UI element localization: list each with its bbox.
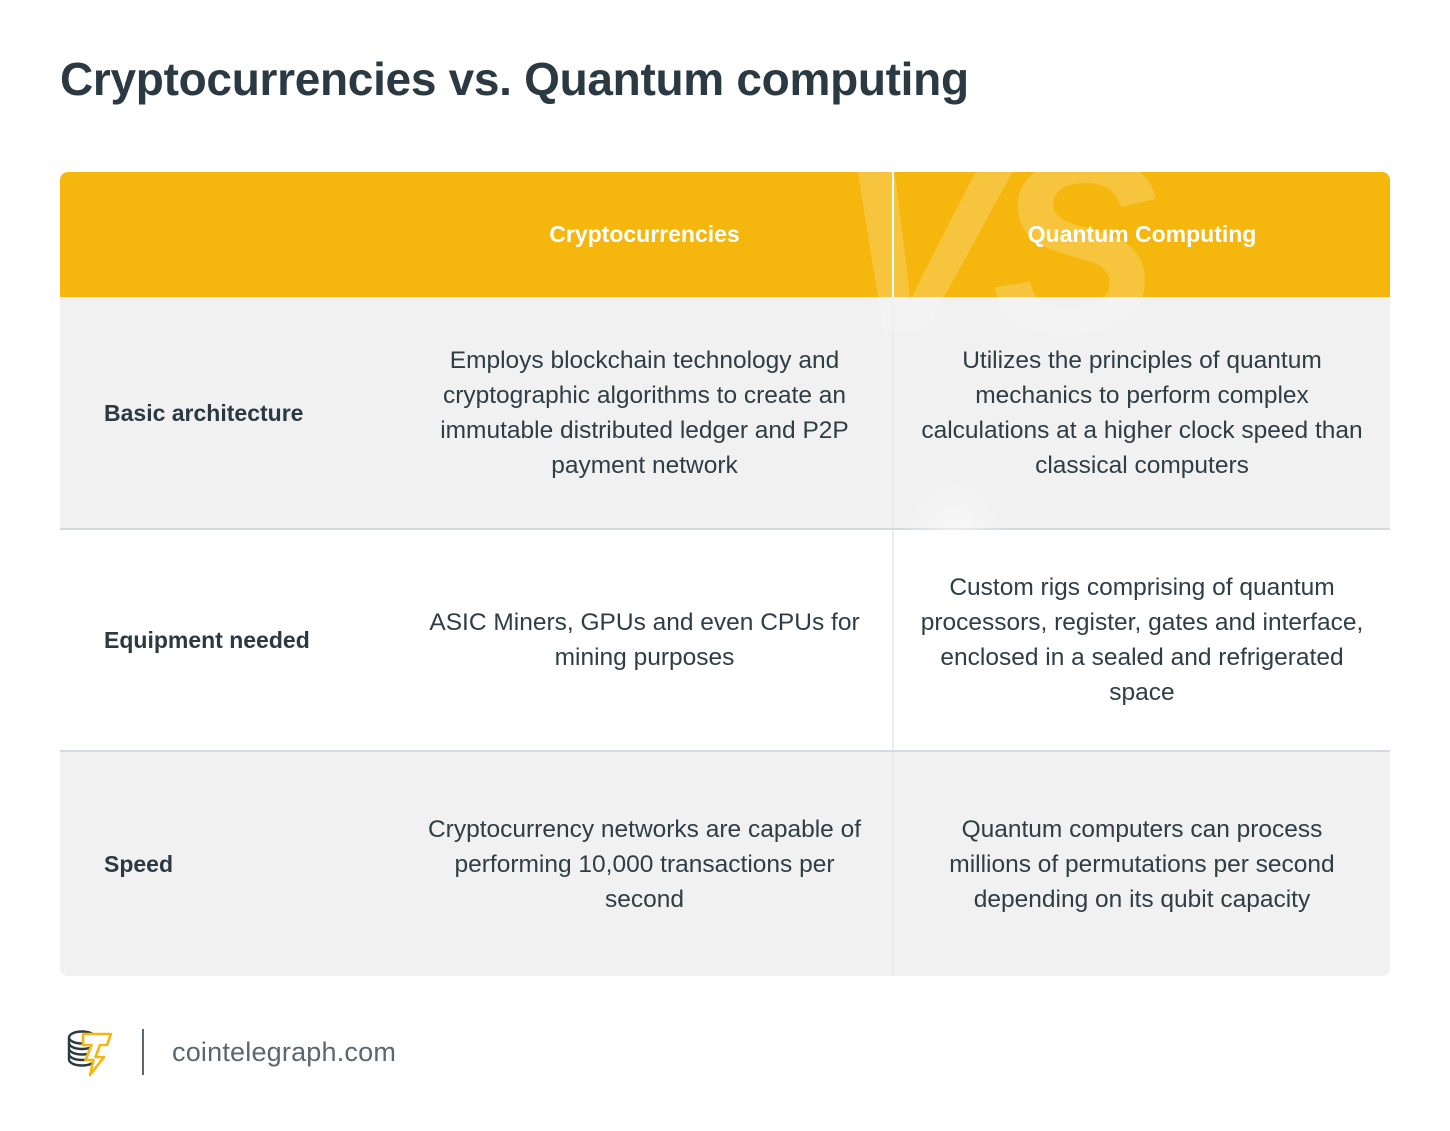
header-label-column bbox=[60, 172, 397, 297]
table-row: Equipment needed ASIC Miners, GPUs and e… bbox=[60, 529, 1390, 751]
cell-quantum-equipment-needed: Custom rigs comprising of quantum proces… bbox=[893, 529, 1390, 751]
row-label-speed: Speed bbox=[60, 751, 397, 976]
row-label-equipment-needed: Equipment needed bbox=[60, 529, 397, 751]
cell-crypto-equipment-needed: ASIC Miners, GPUs and even CPUs for mini… bbox=[397, 529, 893, 751]
table-header-row: Cryptocurrencies Quantum Computing bbox=[60, 172, 1390, 297]
footer: cointelegraph.com bbox=[60, 1020, 396, 1084]
table-header: Cryptocurrencies Quantum Computing bbox=[60, 172, 1390, 297]
table-row: Basic architecture Employs blockchain te… bbox=[60, 297, 1390, 529]
row-label-basic-architecture: Basic architecture bbox=[60, 297, 397, 529]
cell-quantum-basic-architecture: Utilizes the principles of quantum mecha… bbox=[893, 297, 1390, 529]
table-row: Speed Cryptocurrency networks are capabl… bbox=[60, 751, 1390, 976]
footer-url: cointelegraph.com bbox=[172, 1037, 396, 1068]
cell-crypto-basic-architecture: Employs blockchain technology and crypto… bbox=[397, 297, 893, 529]
cell-quantum-speed: Quantum computers can process millions o… bbox=[893, 751, 1390, 976]
footer-divider bbox=[142, 1029, 144, 1075]
table-body: Basic architecture Employs blockchain te… bbox=[60, 297, 1390, 976]
comparison-table: Cryptocurrencies Quantum Computing Basic… bbox=[60, 172, 1390, 976]
infographic-page: Cryptocurrencies vs. Quantum computing C… bbox=[0, 0, 1450, 1131]
cointelegraph-logo-icon bbox=[60, 1024, 116, 1080]
cell-crypto-speed: Cryptocurrency networks are capable of p… bbox=[397, 751, 893, 976]
header-cryptocurrencies: Cryptocurrencies bbox=[397, 172, 893, 297]
page-title: Cryptocurrencies vs. Quantum computing bbox=[60, 50, 1390, 108]
header-quantum-computing: Quantum Computing bbox=[893, 172, 1390, 297]
